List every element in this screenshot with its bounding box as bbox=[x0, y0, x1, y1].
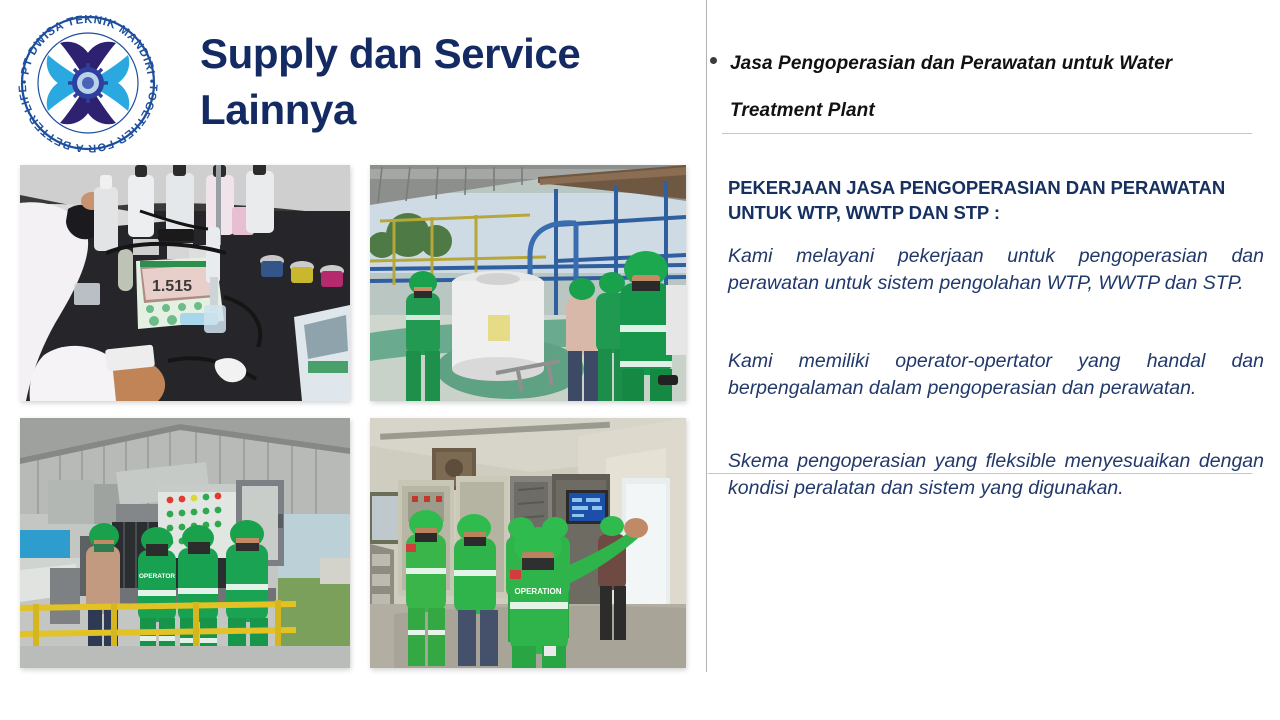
gear-icon bbox=[68, 63, 108, 103]
photo-press: OPERATOR bbox=[20, 418, 350, 668]
body-paragraph-2: Kami memiliki operator-opertator yang ha… bbox=[728, 348, 1264, 402]
uniform-text-operation: OPERATION bbox=[515, 587, 562, 596]
body-heading: PEKERJAAN JASA PENGOPERASIAN DAN PERAWAT… bbox=[728, 176, 1268, 226]
ph-meter-reading: 1.515 bbox=[152, 278, 192, 295]
subtitle: Jasa Pengoperasian dan Perawatan untuk W… bbox=[730, 41, 1260, 134]
logo-graphic: • PT DWISA TEKNIK MANDIRI • TOGETHER FOR… bbox=[14, 12, 162, 154]
photo-control-scene: OPERATION bbox=[370, 418, 686, 668]
photo-lab-scene: 1.515 bbox=[20, 165, 350, 401]
page-title: Supply dan Service Lainnya bbox=[200, 26, 690, 138]
photo-lab: 1.515 bbox=[20, 165, 350, 401]
body-paragraph-1: Kami melayani pekerjaan untuk pengoperas… bbox=[728, 243, 1264, 297]
photo-tank bbox=[370, 165, 686, 401]
photo-press-scene: OPERATOR bbox=[20, 418, 350, 668]
company-logo: • PT DWISA TEKNIK MANDIRI • TOGETHER FOR… bbox=[14, 12, 162, 154]
photo-tank-scene bbox=[370, 165, 686, 401]
uniform-text-operator: OPERATOR bbox=[139, 573, 176, 580]
photo-control: OPERATION bbox=[370, 418, 686, 668]
body-paragraph-3: Skema pengoperasian yang fleksible menye… bbox=[728, 448, 1264, 502]
right-panel: Jasa Pengoperasian dan Perawatan untuk W… bbox=[707, 0, 1280, 720]
bullet-dot-icon bbox=[710, 57, 717, 64]
left-panel: • PT DWISA TEKNIK MANDIRI • TOGETHER FOR… bbox=[0, 0, 706, 720]
